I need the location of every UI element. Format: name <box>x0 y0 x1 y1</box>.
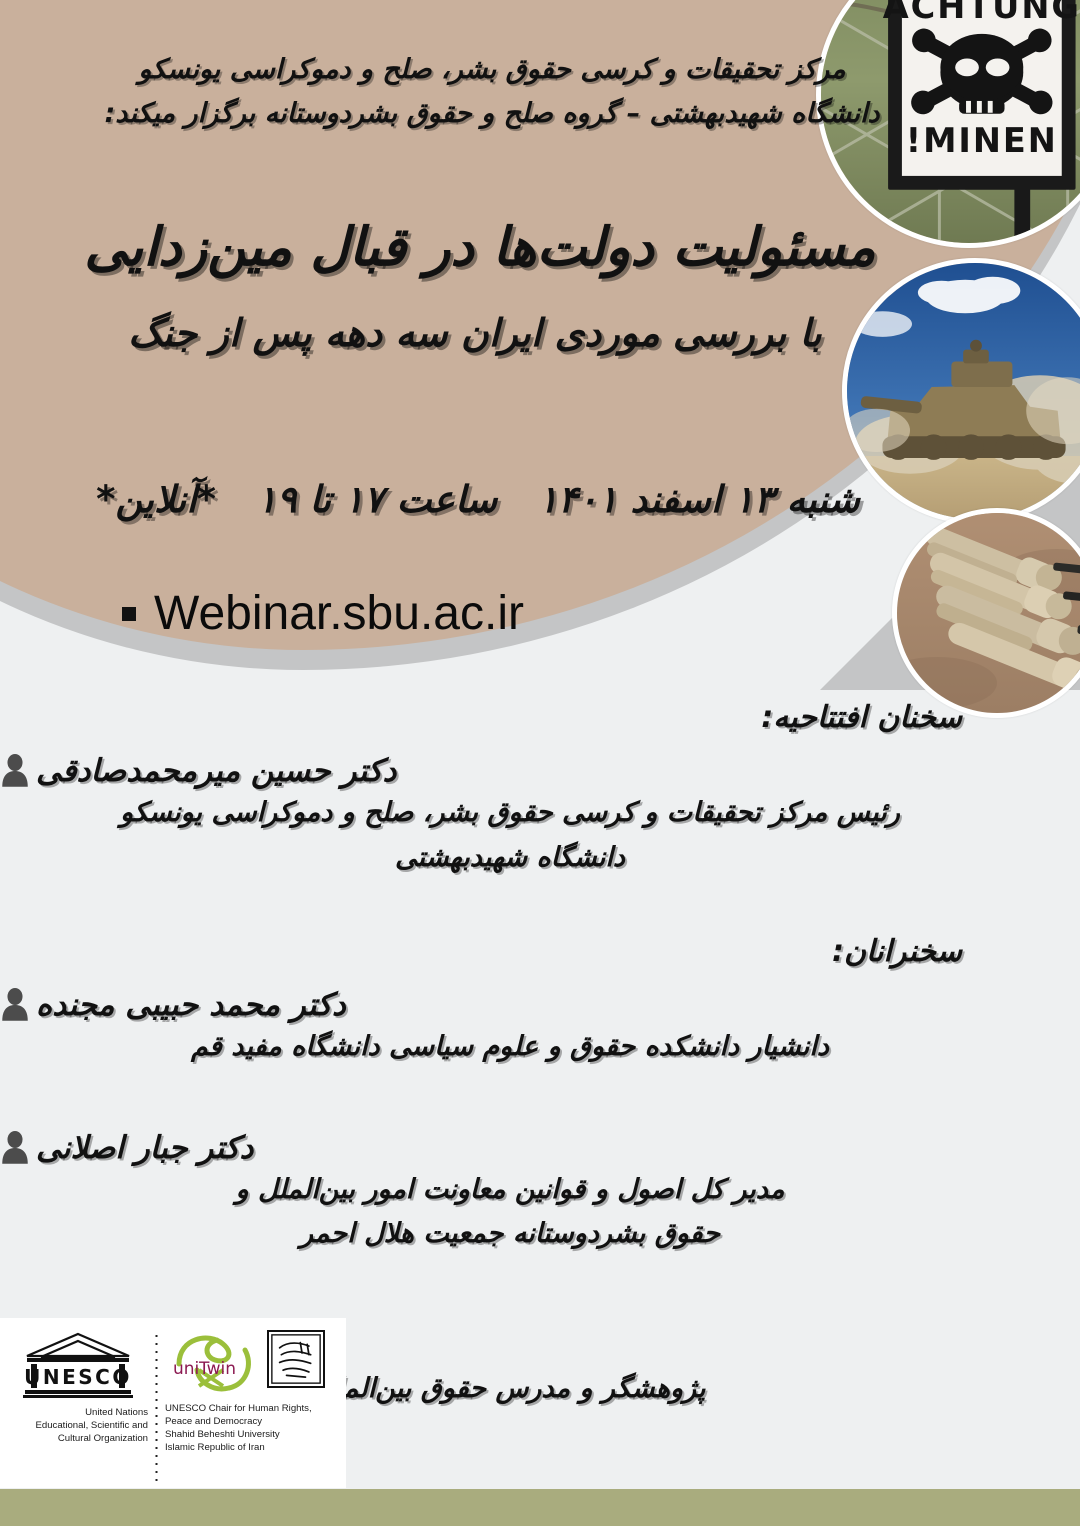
speaker-2-name: دکتر جبار اصلانی <box>36 1130 253 1166</box>
unesco-caption: United Nations Educational, Scientific a… <box>8 1407 148 1446</box>
unitwin-wordmark-uni: uni <box>173 1359 199 1379</box>
organizer-line-2: دانشگاه شهیدبهشتی – گروه صلح و حقوق بشرد… <box>0 92 1080 136</box>
person-icon <box>0 754 30 788</box>
speaker-2-name-row: دکتر جبار اصلانی <box>0 1130 1080 1166</box>
unesco-logo: UNESCO United Nations Educational, Scien… <box>8 1330 148 1482</box>
square-bullet-icon <box>122 607 136 621</box>
event-datetime-row: شنبه ۱۳ اسفند ۱۴۰۱ ساعت ۱۷ تا ۱۹ *آنلاین… <box>0 478 1080 521</box>
opening-speaker-affiliation-2: دانشگاه شهیدبهشتی <box>0 838 1080 879</box>
svg-text:ACHTUNG: ACHTUNG <box>883 0 1080 26</box>
event-time: ساعت ۱۷ تا ۱۹ <box>257 478 497 521</box>
poster-canvas: ACHTUNG <box>0 0 1080 1526</box>
speaker-2-affiliation-1: مدیر کل اصول و قوانین معاونت امور بین‌ال… <box>0 1170 1080 1211</box>
unesco-caption-line-1: United Nations <box>8 1407 148 1420</box>
opening-remarks-label: سخنان افتتاحیه: <box>0 700 1080 735</box>
sbu-seal-icon <box>267 1330 325 1388</box>
event-date: شنبه ۱۳ اسفند ۱۴۰۱ <box>538 478 860 521</box>
chair-caption-line-1: UNESCO Chair for Human Rights, <box>165 1403 340 1416</box>
chair-caption-line-4: Islamic Republic of Iran <box>165 1442 340 1455</box>
footer-green-bar <box>0 1489 1080 1526</box>
page-subtitle: با بررسی موردی ایران سه دهه پس از جنگ <box>0 309 1080 358</box>
logo-divider-dotted <box>155 1332 158 1482</box>
speaker-1: دکتر محمد حبیبی مجنده دانشیار دانشکده حق… <box>0 987 1080 1068</box>
opening-speaker: دکتر حسین میرمحمدصادقی رئیس مرکز تحقیقات… <box>0 753 1080 878</box>
speaker-1-affiliation-1: دانشیار دانشکده حقوق و علوم سیاسی دانشگا… <box>0 1027 1080 1068</box>
person-icon <box>0 988 30 1022</box>
speaker-2-affiliation-2: حقوق بشردوستانه جمعیت هلال احمر <box>0 1214 1080 1255</box>
event-mode: *آنلاین* <box>96 478 216 521</box>
page-title: مسئولیت دولت‌ها در قبال مین‌زدایی <box>0 215 1080 281</box>
title-block: مسئولیت دولت‌ها در قبال مین‌زدایی با برر… <box>0 215 1080 359</box>
organizer-line-1: مرکز تحقیقات و کرسی حقوق بشر، صلح و دموک… <box>0 48 1080 92</box>
speaker-2: دکتر جبار اصلانی مدیر کل اصول و قوانین م… <box>0 1130 1080 1255</box>
person-icon <box>0 1131 30 1165</box>
opening-speaker-name-row: دکتر حسین میرمحمدصادقی <box>0 753 1080 789</box>
opening-speaker-affiliation-1: رئیس مرکز تحقیقات و کرسی حقوق بشر، صلح و… <box>0 793 1080 834</box>
opening-speaker-name: دکتر حسین میرمحمدصادقی <box>36 753 396 789</box>
speaker-1-name-row: دکتر محمد حبیبی مجنده <box>0 987 1080 1023</box>
unesco-chair-logo: uni Twin <box>165 1330 340 1482</box>
chair-caption-line-2: Peace and Democracy <box>165 1416 340 1429</box>
unitwin-wordmark-twin: Twin <box>198 1359 236 1379</box>
webinar-url[interactable]: Webinar.sbu.ac.ir <box>154 586 524 641</box>
svg-text:UNESCO: UNESCO <box>24 1365 132 1389</box>
organizer-header: مرکز تحقیقات و کرسی حقوق بشر، صلح و دموک… <box>0 48 1080 135</box>
unesco-temple-icon: UNESCO <box>19 1330 137 1400</box>
webinar-url-row[interactable]: Webinar.sbu.ac.ir <box>122 586 524 641</box>
program-section: سخنان افتتاحیه: دکتر حسین میرمحمدصادقی ر… <box>0 700 1080 1409</box>
unesco-caption-line-2: Educational, Scientific and <box>8 1420 148 1433</box>
unesco-chair-caption: UNESCO Chair for Human Rights, Peace and… <box>165 1403 340 1455</box>
unesco-caption-line-3: Cultural Organization <box>8 1433 148 1446</box>
unitwin-icon: uni Twin <box>165 1330 261 1396</box>
speaker-1-name: دکتر محمد حبیبی مجنده <box>36 987 346 1023</box>
logo-block: UNESCO United Nations Educational, Scien… <box>0 1318 346 1488</box>
speakers-label: سخنرانان: <box>0 934 1080 969</box>
chair-caption-line-3: Shahid Beheshti University <box>165 1429 340 1442</box>
